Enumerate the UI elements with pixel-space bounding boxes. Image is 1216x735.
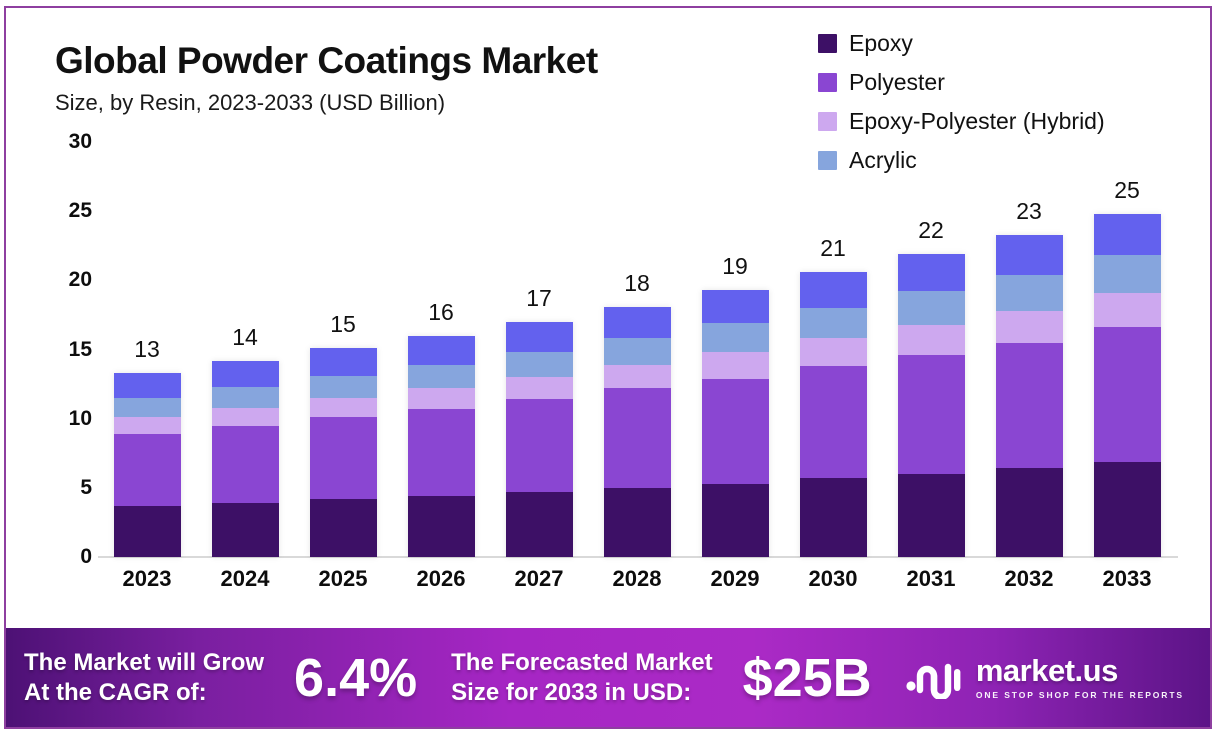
legend-item-epoxy-polyester-hybrid[interactable]: Epoxy-Polyester (Hybrid)	[818, 102, 1198, 141]
bar-segment-polyester[interactable]	[506, 399, 573, 492]
bar-segment-polyester[interactable]	[800, 366, 867, 478]
bar-segment-epoxy-polyester-hybrid[interactable]	[1094, 293, 1161, 328]
x-axis-tick-2026: 2026	[392, 566, 490, 602]
bar-group-2033[interactable]: 25	[1078, 142, 1176, 557]
bar-value-label: 23	[1016, 198, 1042, 225]
bar-stack[interactable]	[212, 361, 279, 557]
x-axis-tick-2032: 2032	[980, 566, 1078, 602]
bar-segment-epoxy-polyester-hybrid[interactable]	[800, 338, 867, 366]
bar-segment-acrylic[interactable]	[212, 387, 279, 408]
cagr-caption-line1: The Market will Grow	[24, 648, 264, 677]
bar-segment-epoxy-polyester-hybrid[interactable]	[310, 398, 377, 417]
bar-segment-others[interactable]	[898, 254, 965, 291]
bar-segment-acrylic[interactable]	[408, 365, 475, 389]
market-us-logo-icon	[904, 657, 966, 699]
bar-stack[interactable]	[310, 348, 377, 557]
bar-segment-acrylic[interactable]	[506, 352, 573, 377]
x-axis-tick-2027: 2027	[490, 566, 588, 602]
y-axis-tick: 30	[40, 130, 92, 154]
bar-segment-epoxy[interactable]	[996, 468, 1063, 557]
bar-segment-others[interactable]	[702, 290, 769, 323]
bar-value-label: 18	[624, 270, 650, 297]
bar-segment-polyester[interactable]	[1094, 327, 1161, 461]
bar-group-2032[interactable]: 23	[980, 142, 1078, 557]
bar-segment-others[interactable]	[1094, 214, 1161, 256]
bar-segment-acrylic[interactable]	[800, 308, 867, 338]
bar-segment-polyester[interactable]	[996, 343, 1063, 469]
logo-tagline: ONE STOP SHOP FOR THE REPORTS	[976, 690, 1184, 700]
bar-segment-epoxy[interactable]	[310, 499, 377, 557]
infographic-root: Global Powder Coatings Market Size, by R…	[0, 0, 1216, 735]
bar-segment-epoxy-polyester-hybrid[interactable]	[996, 311, 1063, 343]
bar-segment-epoxy-polyester-hybrid[interactable]	[604, 365, 671, 389]
bar-segment-others[interactable]	[310, 348, 377, 376]
bar-group-2028[interactable]: 18	[588, 142, 686, 557]
x-axis-tick-2030: 2030	[784, 566, 882, 602]
legend-swatch-icon	[818, 34, 837, 53]
bar-group-2026[interactable]: 16	[392, 142, 490, 557]
y-axis-tick: 15	[40, 338, 92, 362]
bar-segment-epoxy-polyester-hybrid[interactable]	[212, 408, 279, 426]
bar-stack[interactable]	[800, 272, 867, 557]
bar-segment-acrylic[interactable]	[114, 398, 181, 417]
bar-segment-acrylic[interactable]	[1094, 255, 1161, 292]
bar-segment-epoxy-polyester-hybrid[interactable]	[506, 377, 573, 399]
bar-segment-others[interactable]	[212, 361, 279, 387]
bar-segment-others[interactable]	[996, 235, 1063, 275]
x-axis: 2023202420252026202720282029203020312032…	[98, 566, 1176, 602]
bar-segment-acrylic[interactable]	[898, 291, 965, 324]
bar-segment-polyester[interactable]	[212, 426, 279, 503]
y-axis-tick: 10	[40, 407, 92, 431]
logo-name: market.us	[976, 655, 1184, 686]
bar-stack[interactable]	[702, 290, 769, 557]
legend-item-polyester[interactable]: Polyester	[818, 63, 1198, 102]
bar-value-label: 25	[1114, 177, 1140, 204]
bar-segment-epoxy[interactable]	[1094, 462, 1161, 557]
x-axis-tick-2029: 2029	[686, 566, 784, 602]
forecast-caption-line1: The Forecasted Market	[451, 648, 712, 677]
bar-segment-polyester[interactable]	[604, 388, 671, 488]
bar-group-2029[interactable]: 19	[686, 142, 784, 557]
x-axis-tick-2028: 2028	[588, 566, 686, 602]
bar-segment-epoxy[interactable]	[212, 503, 279, 557]
bar-segment-polyester[interactable]	[114, 434, 181, 506]
bar-segment-others[interactable]	[114, 373, 181, 398]
cagr-caption: The Market will Grow At the CAGR of:	[24, 648, 264, 707]
bar-stack[interactable]	[408, 336, 475, 557]
page-subtitle: Size, by Resin, 2023-2033 (USD Billion)	[55, 90, 815, 116]
bar-segment-acrylic[interactable]	[604, 338, 671, 364]
bar-value-label: 19	[722, 253, 748, 280]
x-axis-tick-2031: 2031	[882, 566, 980, 602]
bar-stack[interactable]	[604, 307, 671, 557]
bar-group-2031[interactable]: 22	[882, 142, 980, 557]
x-axis-tick-2025: 2025	[294, 566, 392, 602]
bar-value-label: 14	[232, 324, 258, 351]
x-axis-tick-2033: 2033	[1078, 566, 1176, 602]
cagr-caption-line2: At the CAGR of:	[24, 678, 264, 707]
page-title: Global Powder Coatings Market	[55, 40, 815, 82]
bar-value-label: 22	[918, 217, 944, 244]
bar-segment-epoxy-polyester-hybrid[interactable]	[702, 352, 769, 378]
bar-segment-epoxy-polyester-hybrid[interactable]	[408, 388, 475, 409]
legend-item-label: Epoxy-Polyester (Hybrid)	[849, 110, 1105, 133]
bar-segment-others[interactable]	[604, 307, 671, 339]
bar-segment-polyester[interactable]	[310, 417, 377, 499]
bar-segment-acrylic[interactable]	[996, 275, 1063, 311]
bar-value-label: 21	[820, 235, 846, 262]
cagr-value: 6.4%	[294, 651, 417, 705]
market-us-logo-text: market.us ONE STOP SHOP FOR THE REPORTS	[976, 655, 1184, 700]
bar-segment-epoxy[interactable]	[114, 506, 181, 557]
legend-swatch-icon	[818, 73, 837, 92]
bar-group-2030[interactable]: 21	[784, 142, 882, 557]
legend-item-epoxy[interactable]: Epoxy	[818, 24, 1198, 63]
bar-group-2027[interactable]: 17	[490, 142, 588, 557]
bar-stack[interactable]	[1094, 214, 1161, 557]
bar-value-label: 15	[330, 311, 356, 338]
y-axis-tick: 0	[40, 545, 92, 569]
bar-segment-epoxy[interactable]	[408, 496, 475, 557]
forecast-value: $25B	[743, 651, 872, 705]
bar-stack[interactable]	[898, 254, 965, 557]
bar-segment-epoxy[interactable]	[604, 488, 671, 557]
x-axis-tick-2024: 2024	[196, 566, 294, 602]
bar-segment-epoxy[interactable]	[800, 478, 867, 557]
bar-value-label: 13	[134, 336, 160, 363]
y-axis: 051015202530	[40, 142, 92, 557]
forecast-caption: The Forecasted Market Size for 2033 in U…	[451, 648, 712, 707]
bar-segment-acrylic[interactable]	[702, 323, 769, 352]
footer-banner: The Market will Grow At the CAGR of: 6.4…	[6, 628, 1210, 727]
bar-segment-polyester[interactable]	[408, 409, 475, 496]
bar-segment-others[interactable]	[408, 336, 475, 365]
x-axis-tick-2023: 2023	[98, 566, 196, 602]
bar-segment-epoxy-polyester-hybrid[interactable]	[898, 325, 965, 355]
bar-group-2023[interactable]: 13	[98, 142, 196, 557]
bar-segment-acrylic[interactable]	[310, 376, 377, 398]
bar-segment-polyester[interactable]	[702, 379, 769, 484]
bar-segment-epoxy-polyester-hybrid[interactable]	[114, 417, 181, 434]
bar-value-label: 17	[526, 285, 552, 312]
bar-segment-epoxy[interactable]	[506, 492, 573, 557]
y-axis-tick: 20	[40, 268, 92, 292]
bar-value-label: 16	[428, 299, 454, 326]
y-axis-tick: 25	[40, 199, 92, 223]
bar-segment-others[interactable]	[506, 322, 573, 352]
bar-segment-polyester[interactable]	[898, 355, 965, 474]
forecast-caption-line2: Size for 2033 in USD:	[451, 678, 712, 707]
bar-group-2024[interactable]: 14	[196, 142, 294, 557]
bar-stack[interactable]	[996, 235, 1063, 557]
bar-stack[interactable]	[506, 322, 573, 557]
legend-item-label: Polyester	[849, 71, 945, 94]
bar-series-area: 1314151617181921222325	[98, 142, 1176, 557]
bar-segment-epoxy[interactable]	[702, 484, 769, 557]
bar-stack[interactable]	[114, 373, 181, 557]
legend-item-label: Epoxy	[849, 32, 913, 55]
bar-group-2025[interactable]: 15	[294, 142, 392, 557]
market-us-logo[interactable]: market.us ONE STOP SHOP FOR THE REPORTS	[904, 655, 1184, 700]
bar-segment-epoxy[interactable]	[898, 474, 965, 557]
bar-segment-others[interactable]	[800, 272, 867, 308]
legend-swatch-icon	[818, 112, 837, 131]
y-axis-tick: 5	[40, 476, 92, 500]
